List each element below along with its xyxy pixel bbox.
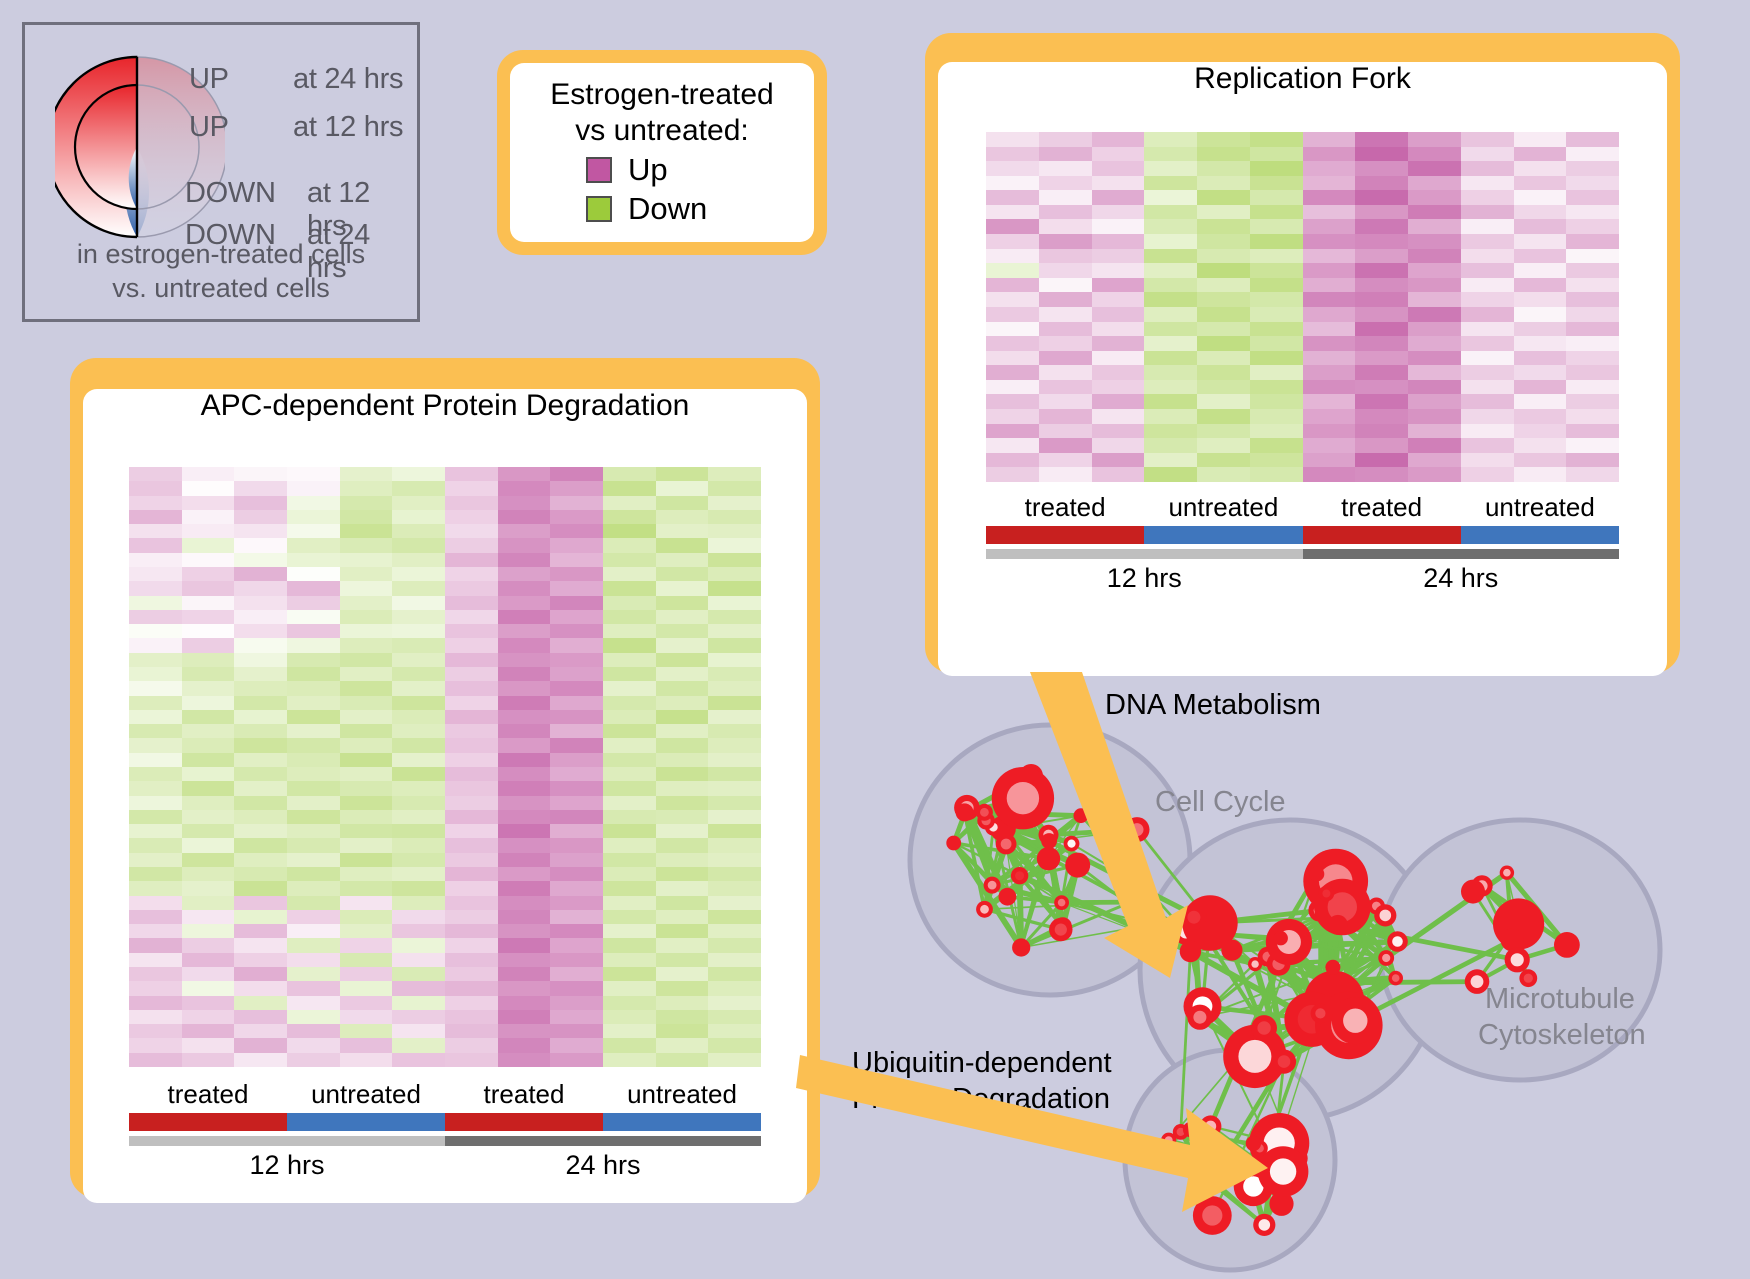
heatmap-cell: [1461, 409, 1514, 424]
key-row-0-time: at 24 hrs: [293, 63, 403, 96]
heatmap-cell: [129, 738, 182, 752]
heatmap-cell: [708, 953, 761, 967]
heatmap-cell: [550, 938, 603, 952]
network-node[interactable]: [1325, 960, 1340, 975]
axis-group-label: treated: [445, 1079, 603, 1110]
heatmap-cell: [340, 567, 393, 581]
heatmap-cell: [182, 796, 235, 810]
heatmap-cell: [656, 510, 709, 524]
heatmap-cell: [234, 1038, 287, 1052]
heatmap-cell: [550, 996, 603, 1010]
heatmap-cell: [392, 767, 445, 781]
heatmap-cell: [1039, 467, 1092, 482]
heatmap-cell: [340, 467, 393, 481]
heatmap-cell: [603, 667, 656, 681]
heatmap-cell: [1566, 147, 1619, 162]
heatmap-cell: [550, 896, 603, 910]
heatmap-cell: [656, 881, 709, 895]
network-node[interactable]: [1065, 853, 1090, 878]
heatmap-cell: [1250, 365, 1303, 380]
heatmap-cell: [1303, 322, 1356, 337]
heatmap-cell: [234, 838, 287, 852]
network-node[interactable]: [1554, 932, 1580, 958]
network-node[interactable]: [1011, 867, 1028, 884]
heatmap-cell: [340, 810, 393, 824]
heatmap-cell: [656, 596, 709, 610]
network-node[interactable]: [1387, 931, 1408, 952]
network-node[interactable]: [1505, 947, 1530, 972]
heatmap-cell: [392, 753, 445, 767]
heatmap-cell: [340, 667, 393, 681]
heatmap-cell: [340, 781, 393, 795]
network-node[interactable]: [1374, 904, 1396, 926]
heatmap-cell: [603, 467, 656, 481]
network-node[interactable]: [1074, 808, 1089, 823]
axis-group-label: treated: [129, 1079, 287, 1110]
network-node[interactable]: [999, 888, 1017, 906]
heatmap-cell: [392, 867, 445, 881]
heatmap-cell: [1355, 380, 1408, 395]
heatmap-cell: [129, 653, 182, 667]
heatmap-cell: [498, 624, 551, 638]
network-node[interactable]: [1202, 1173, 1220, 1191]
color-key-caption-line2: vs. untreated cells: [25, 271, 417, 305]
heatmap-cell: [708, 581, 761, 595]
heatmap-cell: [1197, 205, 1250, 220]
heatmap-cell: [445, 510, 498, 524]
heatmap-cell: [340, 938, 393, 952]
heatmap-cell: [1566, 380, 1619, 395]
heatmap-cell: [392, 610, 445, 624]
heatmap-cell: [986, 263, 1039, 278]
heatmap-cell: [1514, 365, 1567, 380]
network-node[interactable]: [996, 834, 1017, 855]
heatmap-cell: [603, 553, 656, 567]
heatmap-cell: [1303, 147, 1356, 162]
heatmap-cell: [603, 824, 656, 838]
heatmap-cell: [656, 538, 709, 552]
heatmap-cell: [1461, 394, 1514, 409]
heatmap-cell: [287, 638, 340, 652]
heatmap-cell: [392, 781, 445, 795]
heatmap-cell: [234, 824, 287, 838]
heatmap-cell: [392, 553, 445, 567]
heatmap-cell: [1092, 394, 1145, 409]
heatmap-cell: [1039, 263, 1092, 278]
apc-time-labels: 12 hrs24 hrs: [129, 1150, 761, 1181]
network-node[interactable]: [1251, 1015, 1277, 1041]
heatmap-cell: [550, 681, 603, 695]
network-node[interactable]: [1180, 941, 1201, 962]
heatmap-cell: [1197, 132, 1250, 147]
heatmap-cell: [1408, 380, 1461, 395]
heatmap-cell: [392, 881, 445, 895]
heatmap-cell: [1197, 234, 1250, 249]
heatmap-cell: [234, 553, 287, 567]
heatmap-cell: [234, 710, 287, 724]
heatmap-cell: [1039, 365, 1092, 380]
heatmap-cell: [498, 667, 551, 681]
heatmap-cell: [234, 596, 287, 610]
heatmap-cell: [129, 867, 182, 881]
network-node[interactable]: [1248, 957, 1262, 971]
legend-title-line1: Estrogen-treated: [528, 77, 796, 113]
heatmap-cell: [708, 867, 761, 881]
heatmap-cell: [287, 510, 340, 524]
network-node[interactable]: [956, 803, 974, 821]
heatmap-cell: [1461, 336, 1514, 351]
heatmap-cell: [287, 524, 340, 538]
legend-label-up: Up: [628, 152, 668, 188]
heatmap-cell: [1514, 147, 1567, 162]
heatmap-cell: [234, 953, 287, 967]
pathway-network-diagram: DNA Metabolism Cell Cycle Microtubule Cy…: [900, 700, 1750, 1279]
heatmap-cell: [656, 638, 709, 652]
heatmap-cell: [1144, 307, 1197, 322]
heatmap-cell: [603, 910, 656, 924]
heatmap-cell: [1039, 234, 1092, 249]
heatmap-cell: [708, 853, 761, 867]
heatmap-cell: [287, 910, 340, 924]
heatmap-cell: [1566, 409, 1619, 424]
heatmap-cell: [287, 496, 340, 510]
heatmap-cell: [656, 681, 709, 695]
heatmap-cell: [182, 538, 235, 552]
heatmap-cell: [550, 1010, 603, 1024]
heatmap-cell: [1039, 219, 1092, 234]
heatmap-cell: [182, 967, 235, 981]
heatmap-cell: [498, 581, 551, 595]
heatmap-cell: [445, 1010, 498, 1024]
heatmap-cell: [1303, 424, 1356, 439]
heatmap-cell: [1144, 292, 1197, 307]
network-node[interactable]: [984, 877, 1001, 894]
heatmap-cell: [1144, 409, 1197, 424]
network-node[interactable]: [1309, 867, 1324, 882]
network-node[interactable]: [1037, 847, 1060, 870]
heatmap-cell: [234, 981, 287, 995]
heatmap-cell: [1355, 292, 1408, 307]
heatmap-cell: [1092, 380, 1145, 395]
heatmap-cell: [1250, 380, 1303, 395]
heatmap-cell: [1197, 176, 1250, 191]
heatmap-cell: [234, 810, 287, 824]
heatmap-cell: [129, 1010, 182, 1024]
network-node[interactable]: [1332, 997, 1379, 1044]
heatmap-cell: [234, 924, 287, 938]
heatmap-cell: [1197, 467, 1250, 482]
heatmap-cell: [340, 1038, 393, 1052]
axis-group-bar: [445, 1113, 603, 1131]
heatmap-cell: [656, 810, 709, 824]
heatmap-cell: [340, 538, 393, 552]
heatmap-cell: [603, 838, 656, 852]
heatmap-cell: [656, 853, 709, 867]
heatmap-cell: [498, 638, 551, 652]
heatmap-cell: [287, 653, 340, 667]
heatmap-cell: [340, 824, 393, 838]
heatmap-cell: [1250, 205, 1303, 220]
heatmap-cell: [498, 553, 551, 567]
heatmap-cell: [445, 696, 498, 710]
axis-time-label: 12 hrs: [129, 1150, 445, 1181]
heatmap-cell: [550, 881, 603, 895]
heatmap-cell: [1303, 176, 1356, 191]
heatmap-cell: [392, 738, 445, 752]
heatmap-cell: [340, 653, 393, 667]
heatmap-cell: [1461, 365, 1514, 380]
network-node[interactable]: [1378, 950, 1394, 966]
heatmap-cell: [287, 953, 340, 967]
heatmap-cell: [1303, 234, 1356, 249]
heatmap-cell: [129, 624, 182, 638]
heatmap-cell: [656, 667, 709, 681]
axis-group-label: untreated: [603, 1079, 761, 1110]
network-node[interactable]: [946, 836, 961, 851]
heatmap-cell: [550, 724, 603, 738]
heatmap-cell: [234, 781, 287, 795]
network-node[interactable]: [1183, 1122, 1199, 1138]
heatmap-cell: [129, 510, 182, 524]
heatmap-cell: [498, 867, 551, 881]
network-node[interactable]: [1328, 915, 1348, 935]
heatmap-cell: [1514, 219, 1567, 234]
cluster-label-microtubule-line1: Microtubule: [1485, 981, 1635, 1017]
heatmap-cell: [603, 1053, 656, 1067]
heatmap-cell: [340, 553, 393, 567]
heatmap-cell: [129, 581, 182, 595]
heatmap-cell: [445, 838, 498, 852]
heatmap-cell: [182, 996, 235, 1010]
network-node[interactable]: [1064, 836, 1080, 852]
heatmap-cell: [234, 496, 287, 510]
heatmap-cell: [708, 710, 761, 724]
apc-group-labels: treateduntreatedtreateduntreated: [129, 1079, 761, 1110]
heatmap-cell: [986, 409, 1039, 424]
heatmap-cell: [1092, 336, 1145, 351]
heatmap-cell: [129, 910, 182, 924]
heatmap-cell: [1355, 219, 1408, 234]
heatmap-cell: [1144, 263, 1197, 278]
heatmap-cell: [1514, 132, 1567, 147]
heatmap-cell: [445, 953, 498, 967]
heatmap-cell: [392, 838, 445, 852]
heatmap-cell: [986, 132, 1039, 147]
heatmap-cell: [340, 881, 393, 895]
heatmap-cell: [392, 624, 445, 638]
heatmap-cell: [1303, 380, 1356, 395]
heatmap-cell: [1355, 322, 1408, 337]
heatmap-cell: [129, 810, 182, 824]
heatmap-cell: [234, 967, 287, 981]
heatmap-cell: [498, 996, 551, 1010]
heatmap-cell: [129, 667, 182, 681]
heatmap-cell: [656, 796, 709, 810]
network-node[interactable]: [1500, 866, 1514, 880]
heatmap-cell: [708, 796, 761, 810]
heatmap-cell: [1039, 438, 1092, 453]
heatmap-cell: [340, 681, 393, 695]
heatmap-cell: [392, 581, 445, 595]
heatmap-cell: [986, 147, 1039, 162]
network-node[interactable]: [1266, 919, 1312, 965]
heatmap-cell: [708, 938, 761, 952]
color-key-caption-line1: in estrogen-treated cells: [25, 237, 417, 271]
heatmap-cell: [340, 724, 393, 738]
heatmap-cell: [234, 667, 287, 681]
heatmap-cell: [445, 981, 498, 995]
heatmap-cell: [1092, 147, 1145, 162]
heatmap-cell: [1355, 424, 1408, 439]
heatmap-cell: [550, 781, 603, 795]
network-node[interactable]: [1193, 1196, 1232, 1235]
heatmap-cell: [1039, 336, 1092, 351]
heatmap-cell: [1514, 161, 1567, 176]
heatmap-cell: [986, 322, 1039, 337]
network-node[interactable]: [1123, 894, 1138, 909]
heatmap-cell: [1355, 205, 1408, 220]
heatmap-cell: [656, 1038, 709, 1052]
legend-panel: Estrogen-treated vs untreated: Up Down: [497, 50, 827, 255]
heatmap-cell: [1461, 176, 1514, 191]
heatmap-cell: [1303, 263, 1356, 278]
heatmap-cell: [340, 796, 393, 810]
heatmap-cell: [498, 510, 551, 524]
heatmap-cell: [1408, 147, 1461, 162]
heatmap-cell: [1461, 263, 1514, 278]
heatmap-cell: [445, 724, 498, 738]
heatmap-cell: [1355, 409, 1408, 424]
heatmap-cell: [234, 767, 287, 781]
heatmap-cell: [1408, 467, 1461, 482]
heatmap-cell: [1566, 219, 1619, 234]
network-node[interactable]: [1054, 895, 1069, 910]
heatmap-cell: [182, 767, 235, 781]
network-node[interactable]: [1125, 817, 1150, 842]
heatmap-cell: [550, 924, 603, 938]
network-node[interactable]: [1041, 833, 1057, 849]
network-node[interactable]: [1319, 886, 1335, 902]
heatmap-cell: [392, 953, 445, 967]
heatmap-cell: [1461, 278, 1514, 293]
network-node[interactable]: [1253, 1214, 1275, 1236]
heatmap-cell: [656, 896, 709, 910]
heatmap-cell: [656, 867, 709, 881]
network-node[interactable]: [1246, 1136, 1261, 1151]
heatmap-cell: [287, 896, 340, 910]
heatmap-cell: [129, 838, 182, 852]
heatmap-cell: [986, 176, 1039, 191]
heatmap-cell: [1566, 132, 1619, 147]
heatmap-cell: [1461, 322, 1514, 337]
network-node[interactable]: [1200, 1115, 1222, 1137]
network-node[interactable]: [992, 767, 1054, 829]
heatmap-cell: [550, 810, 603, 824]
heatmap-cell: [234, 638, 287, 652]
heatmap-cell: [234, 1010, 287, 1024]
heatmap-cell: [340, 624, 393, 638]
heatmap-cell: [182, 596, 235, 610]
heatmap-cell: [392, 481, 445, 495]
heatmap-cell: [1514, 263, 1567, 278]
heatmap-cell: [1461, 438, 1514, 453]
heatmap-cell: [1092, 409, 1145, 424]
heatmap-cell: [708, 810, 761, 824]
network-node[interactable]: [1274, 931, 1288, 945]
heatmap-cell: [1461, 424, 1514, 439]
color-key-caption: in estrogen-treated cells vs. untreated …: [25, 237, 417, 305]
heatmap-cell: [340, 981, 393, 995]
legend-title-line2: vs untreated:: [528, 113, 796, 149]
heatmap-cell: [129, 638, 182, 652]
network-node[interactable]: [1181, 905, 1206, 930]
heatmap-cell: [708, 467, 761, 481]
network-node[interactable]: [1311, 1004, 1331, 1024]
heatmap-cell: [1197, 249, 1250, 264]
heatmap-cell: [498, 838, 551, 852]
color-key-box: UP at 24 hrs UP at 12 hrs DOWN at 12 hrs…: [22, 22, 420, 322]
heatmap-cell: [1566, 263, 1619, 278]
heatmap-cell: [182, 781, 235, 795]
heatmap-cell: [1039, 278, 1092, 293]
heatmap-cell: [1566, 176, 1619, 191]
network-node[interactable]: [1012, 938, 1030, 956]
heatmap-cell: [234, 867, 287, 881]
heatmap-cell: [708, 896, 761, 910]
heatmap-cell: [986, 249, 1039, 264]
heatmap-cell: [656, 553, 709, 567]
heatmap-cell: [392, 510, 445, 524]
heatmap-cell: [234, 467, 287, 481]
heatmap-cell: [445, 810, 498, 824]
heatmap-cell: [287, 481, 340, 495]
heatmap-cell: [550, 953, 603, 967]
heatmap-cell: [603, 767, 656, 781]
heatmap-cell: [986, 161, 1039, 176]
heatmap-cell: [550, 524, 603, 538]
heatmap-cell: [182, 853, 235, 867]
heatmap-cell: [498, 724, 551, 738]
heatmap-cell: [1250, 249, 1303, 264]
heatmap-cell: [1566, 438, 1619, 453]
heatmap-cell: [182, 738, 235, 752]
heatmap-cell: [1197, 394, 1250, 409]
heatmap-cell: [129, 996, 182, 1010]
network-node[interactable]: [976, 901, 993, 918]
heatmap-cell: [1461, 249, 1514, 264]
network-node[interactable]: [1272, 1050, 1296, 1074]
heatmap-cell: [1303, 249, 1356, 264]
heatmap-cell: [129, 781, 182, 795]
heatmap-cell: [182, 581, 235, 595]
network-node[interactable]: [1187, 1005, 1212, 1030]
heatmap-cell: [1144, 453, 1197, 468]
heatmap-cell: [340, 838, 393, 852]
heatmap-cell: [1408, 453, 1461, 468]
figure-canvas: UP at 24 hrs UP at 12 hrs DOWN at 12 hrs…: [0, 0, 1750, 1279]
heatmap-cell: [1250, 394, 1303, 409]
network-node[interactable]: [1049, 918, 1072, 941]
network-node[interactable]: [1258, 1146, 1309, 1197]
heatmap-cell: [986, 336, 1039, 351]
heatmap-cell: [340, 924, 393, 938]
heatmap-cell: [234, 481, 287, 495]
heatmap-cell: [986, 351, 1039, 366]
network-node[interactable]: [1388, 971, 1403, 986]
network-node[interactable]: [1461, 880, 1485, 904]
heatmap-cell: [1303, 190, 1356, 205]
cluster-label-microtubule-line2: Cytoskeleton: [1478, 1017, 1646, 1053]
